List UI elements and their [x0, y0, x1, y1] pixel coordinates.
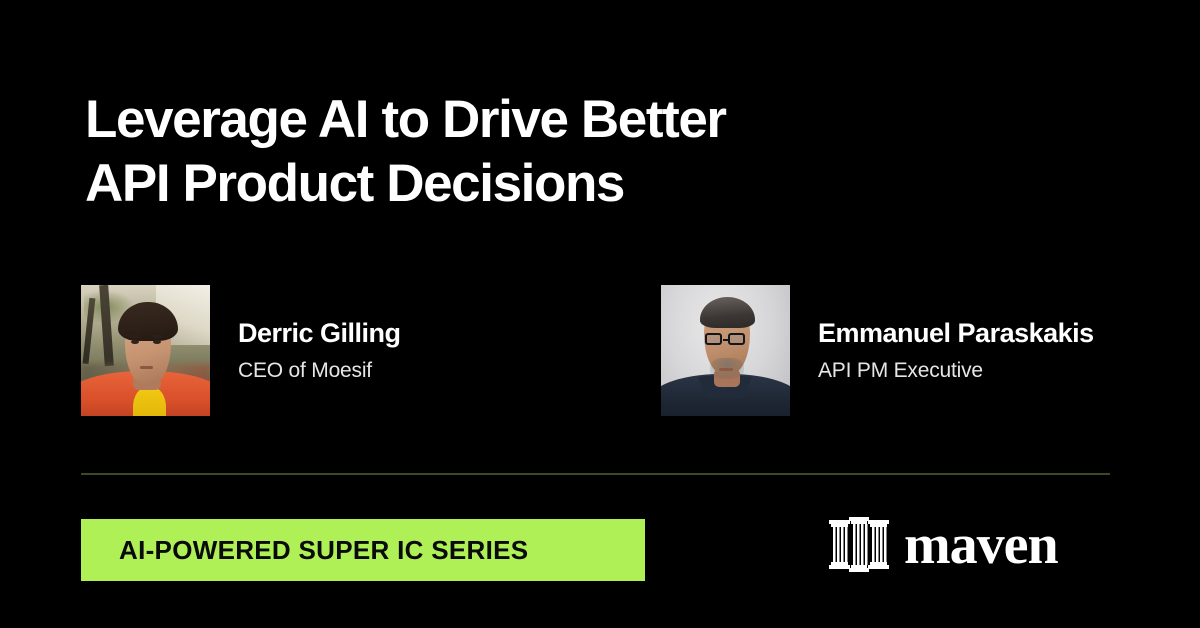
speaker-card-1: Derric Gilling CEO of Moesif: [81, 285, 401, 416]
status-badge: AI-POWERED SUPER IC SERIES: [81, 519, 645, 581]
divider: [81, 473, 1110, 475]
speaker-info-1: Derric Gilling CEO of Moesif: [238, 316, 401, 386]
maven-logo: maven: [828, 512, 1058, 578]
title-line-1: Leverage AI to Drive Better: [85, 88, 985, 152]
speaker-card-2: Emmanuel Paraskakis API PM Executive: [661, 285, 1094, 416]
speaker-name: Derric Gilling: [238, 316, 401, 350]
speaker-role: CEO of Moesif: [238, 356, 401, 386]
avatar-emmanuel-paraskakis: [661, 285, 790, 416]
speaker-name: Emmanuel Paraskakis: [818, 316, 1094, 350]
page-title: Leverage AI to Drive Better API Product …: [85, 88, 985, 216]
speaker-info-2: Emmanuel Paraskakis API PM Executive: [818, 316, 1094, 386]
speaker-list: Derric Gilling CEO of Moesif: [81, 285, 1141, 417]
badge-label: AI-POWERED SUPER IC SERIES: [119, 535, 528, 566]
brand-wordmark: maven: [904, 517, 1058, 573]
three-columns-icon: [828, 516, 890, 574]
avatar-derric-gilling: [81, 285, 210, 416]
speaker-role: API PM Executive: [818, 356, 1094, 386]
title-line-2: API Product Decisions: [85, 152, 985, 216]
promo-banner: Leverage AI to Drive Better API Product …: [0, 0, 1200, 628]
